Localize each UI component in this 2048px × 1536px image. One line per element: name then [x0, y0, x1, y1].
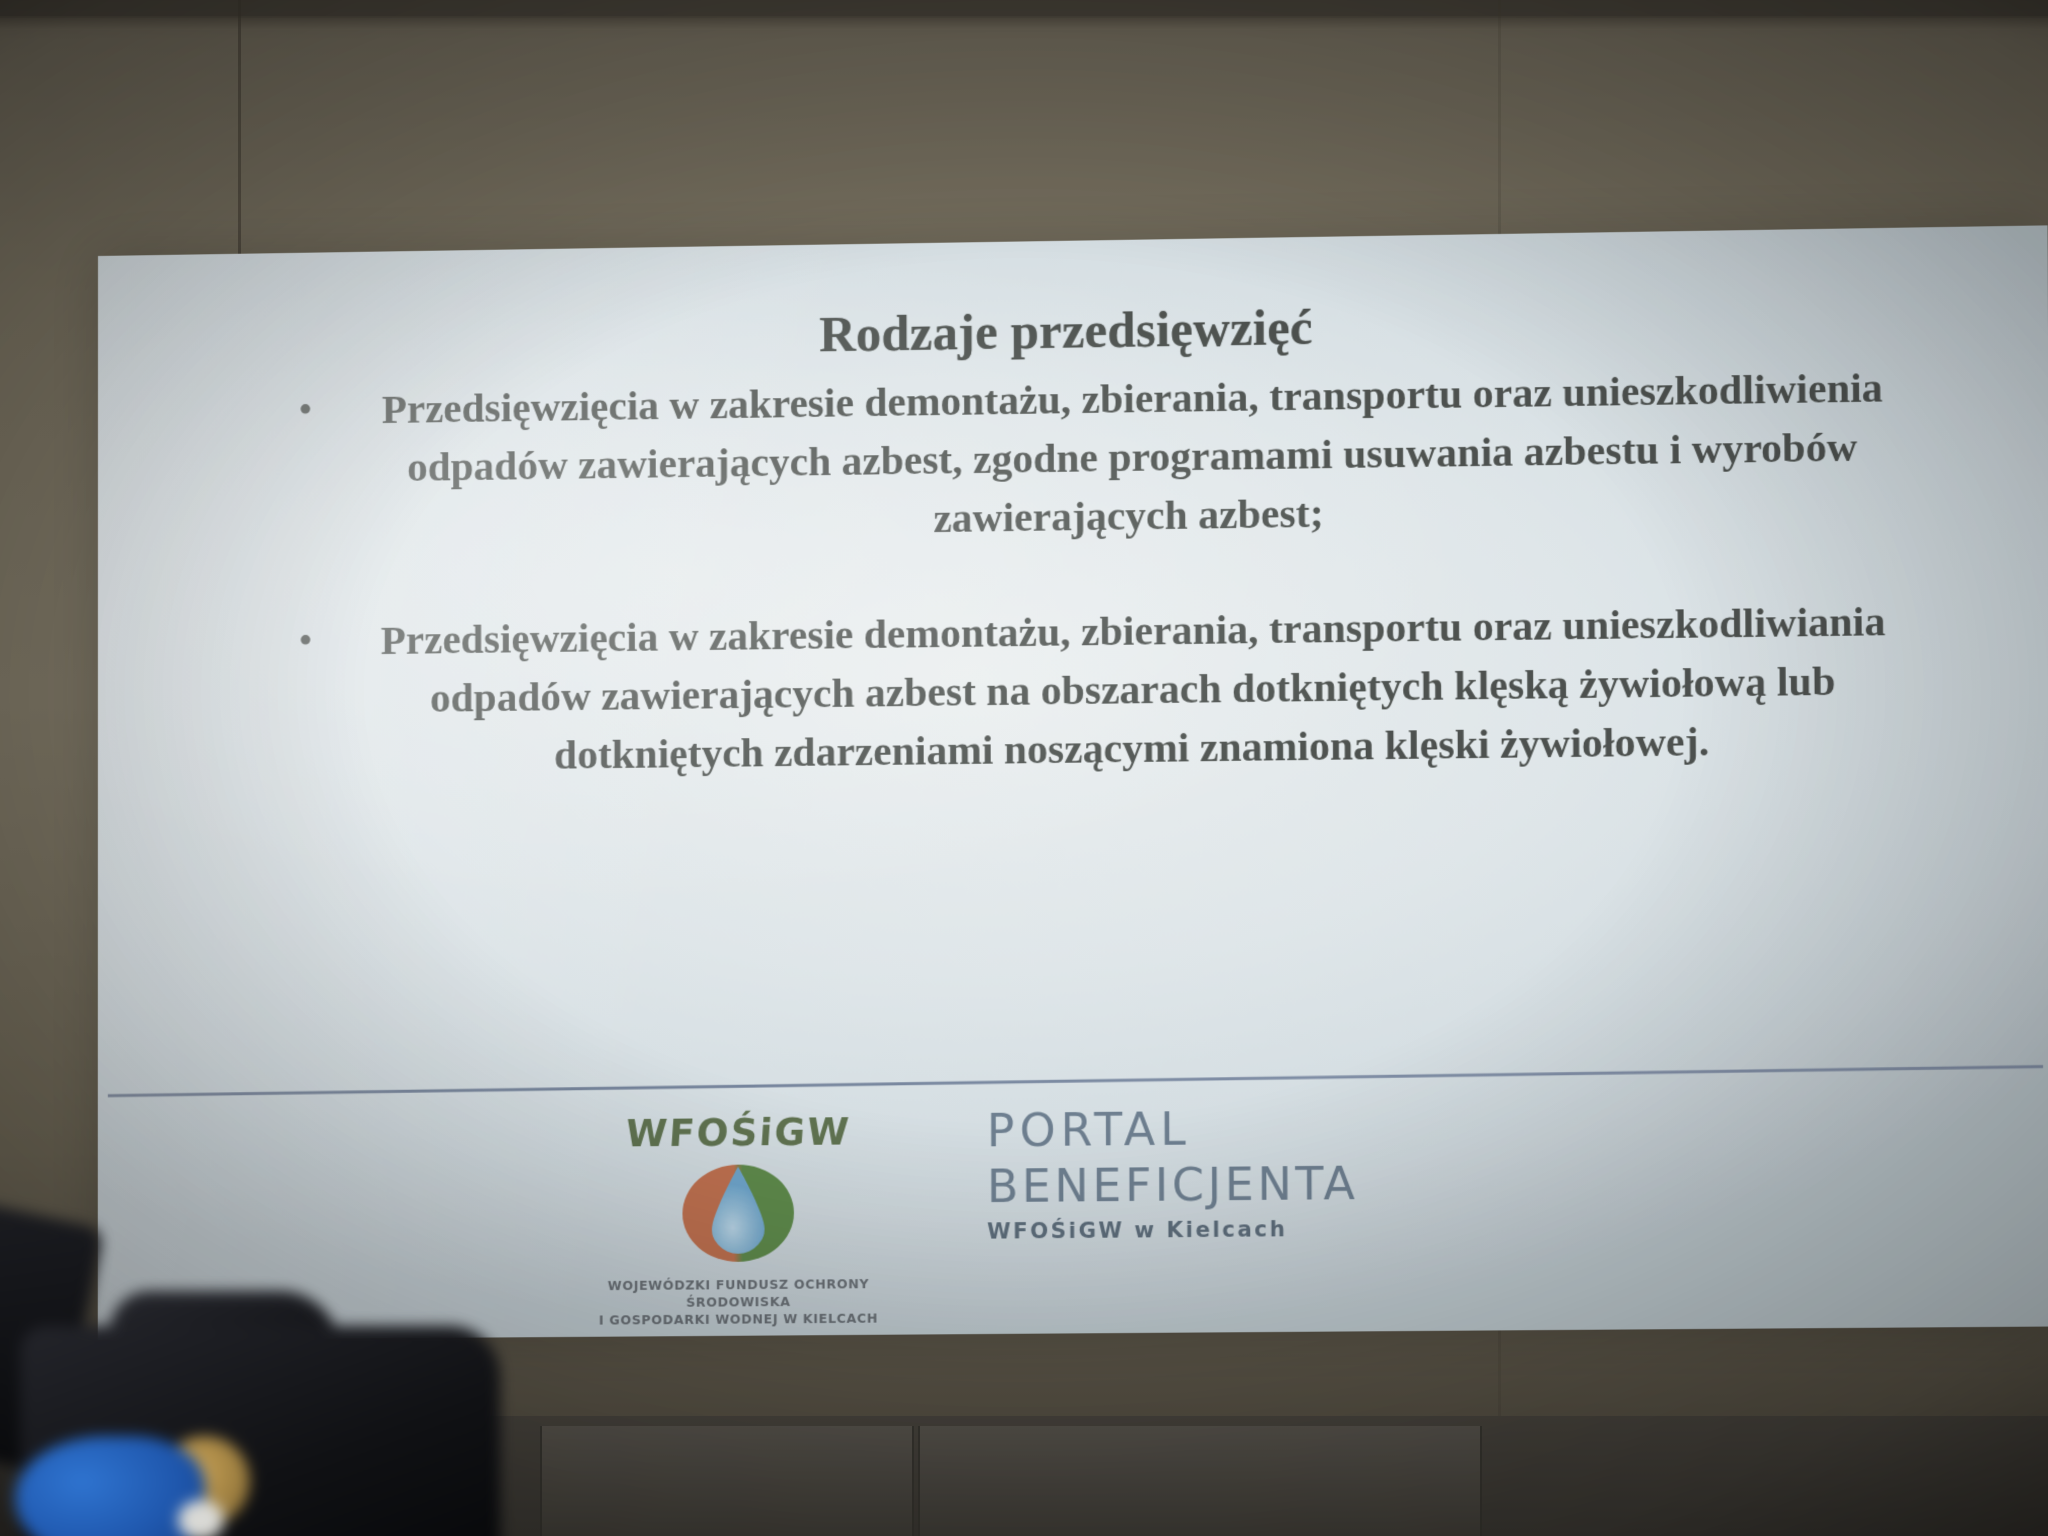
bullet-text: Przedsięwzięcia w zakresie demontażu, zb… [331, 591, 1938, 787]
footer-divider [108, 1065, 2043, 1097]
portal-logo-line-1: PORTAL [987, 1099, 1359, 1158]
wfosigw-emblem-icon [682, 1164, 794, 1262]
wall-seam [0, 16, 2048, 30]
slide-content: Rodzaje przedsięwzięć • Przedsięwzięcia … [98, 225, 2048, 1340]
wfosigw-wordmark-text: WFOŚiGW [624, 1110, 852, 1155]
wfosigw-wordmark: WFOŚiGW [624, 1110, 852, 1155]
portal-logo-line-2: BENEFICJENTA [987, 1155, 1359, 1214]
bullet-marker-icon: • [218, 611, 330, 671]
projected-slide: Rodzaje przedsięwzięć • Przedsięwzięcia … [98, 225, 2048, 1340]
foreground-camera [0, 1196, 580, 1536]
scene-root: Rodzaje przedsięwzięć • Przedsięwzięcia … [0, 0, 2048, 1536]
cabinet-panel-right [918, 1426, 1482, 1536]
bullet-text: Przedsięwzięcia w zakresie demontażu, zb… [330, 357, 1936, 555]
bullet-item: • Przedsięwzięcia w zakresie demontażu, … [218, 591, 1938, 788]
camera-highlight [178, 1500, 224, 1536]
wfosigw-logo: WFOŚiGW WOJEWÓDZKI FUNDUSZ OCHRONY ŚRODO… [571, 1110, 906, 1329]
bullet-marker-icon: • [218, 381, 330, 441]
wfosigw-caption-line-2: I GOSPODARKI WODNEJ W KIELCACH [571, 1309, 906, 1329]
wfosigw-caption: WOJEWÓDZKI FUNDUSZ OCHRONY ŚRODOWISKA I … [571, 1275, 906, 1329]
portal-logo-line-3: WFOŚiGW w Kielcach [987, 1211, 1359, 1248]
wfosigw-caption-line-1: WOJEWÓDZKI FUNDUSZ OCHRONY ŚRODOWISKA [571, 1275, 906, 1312]
bullet-item: • Przedsięwzięcia w zakresie demontażu, … [218, 357, 1936, 557]
cabinet-panel-left [540, 1426, 914, 1536]
slide-bullet-list: • Przedsięwzięcia w zakresie demontażu, … [218, 357, 1938, 810]
portal-beneficjenta-logo: PORTAL BENEFICJENTA WFOŚiGW w Kielcach [987, 1099, 1359, 1248]
